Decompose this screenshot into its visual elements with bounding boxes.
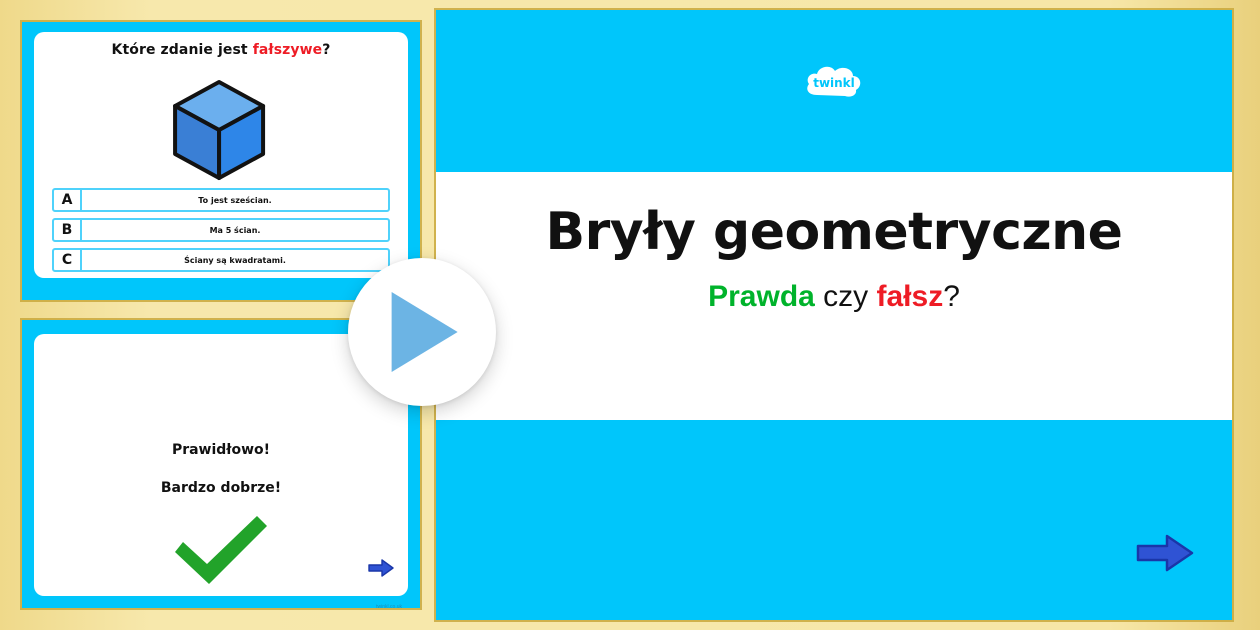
question-emphasis: fałszywe [253, 42, 323, 58]
question-prefix: Które zdanie jest [112, 42, 253, 58]
page-subtitle: Prawda czy fałsz? [436, 280, 1232, 314]
watermark-text: twinkl.co.uk [376, 604, 402, 610]
answer-option-c[interactable]: C Ściany są kwadratami. [52, 248, 390, 272]
answer-letter: C [54, 250, 82, 270]
title-band: Bryły geometryczne Prawda czy fałsz? [436, 172, 1232, 420]
question-card: Które zdanie jest fałszywe? A To jest sz… [34, 32, 408, 278]
play-triangle-icon [392, 292, 458, 372]
answer-letter: A [54, 190, 82, 210]
answer-text: Ma 5 ścian. [82, 226, 388, 235]
cloud-logo-icon: twinkl [803, 61, 865, 103]
answer-option-b[interactable]: B Ma 5 ścian. [52, 218, 390, 242]
question-suffix: ? [322, 42, 330, 58]
next-arrow-icon[interactable] [368, 559, 394, 582]
subtitle-false-word: fałsz [877, 280, 944, 313]
subtitle-true-word: Prawda [708, 280, 815, 313]
thumbnail-question-slide[interactable]: Które zdanie jest fałszywe? A To jest sz… [22, 22, 420, 300]
logo-text: twinkl [813, 76, 855, 90]
question-title: Które zdanie jest fałszywe? [34, 42, 408, 58]
subtitle-conjunction: czy [815, 280, 877, 313]
subtitle-tail: ? [943, 280, 960, 313]
correct-secondary-text: Bardzo dobrze! [34, 480, 408, 496]
main-slide[interactable]: twinkl Bryły geometryczne Prawda czy fał… [436, 10, 1232, 620]
play-button[interactable] [348, 258, 496, 406]
correct-card: Prawidłowo! Bardzo dobrze! twinkl.co.uk [34, 334, 408, 596]
next-arrow-icon[interactable] [1136, 533, 1194, 578]
answer-option-a[interactable]: A To jest sześcian. [52, 188, 390, 212]
cube-icon [171, 78, 267, 182]
answer-text: To jest sześcian. [82, 196, 388, 205]
answer-options: A To jest sześcian. B Ma 5 ścian. C Ścia… [52, 188, 390, 278]
correct-primary-text: Prawidłowo! [34, 442, 408, 458]
page-title: Bryły geometryczne [436, 202, 1232, 262]
answer-text: Ściany są kwadratami. [82, 256, 388, 265]
green-check-icon [169, 512, 273, 593]
answer-letter: B [54, 220, 82, 240]
